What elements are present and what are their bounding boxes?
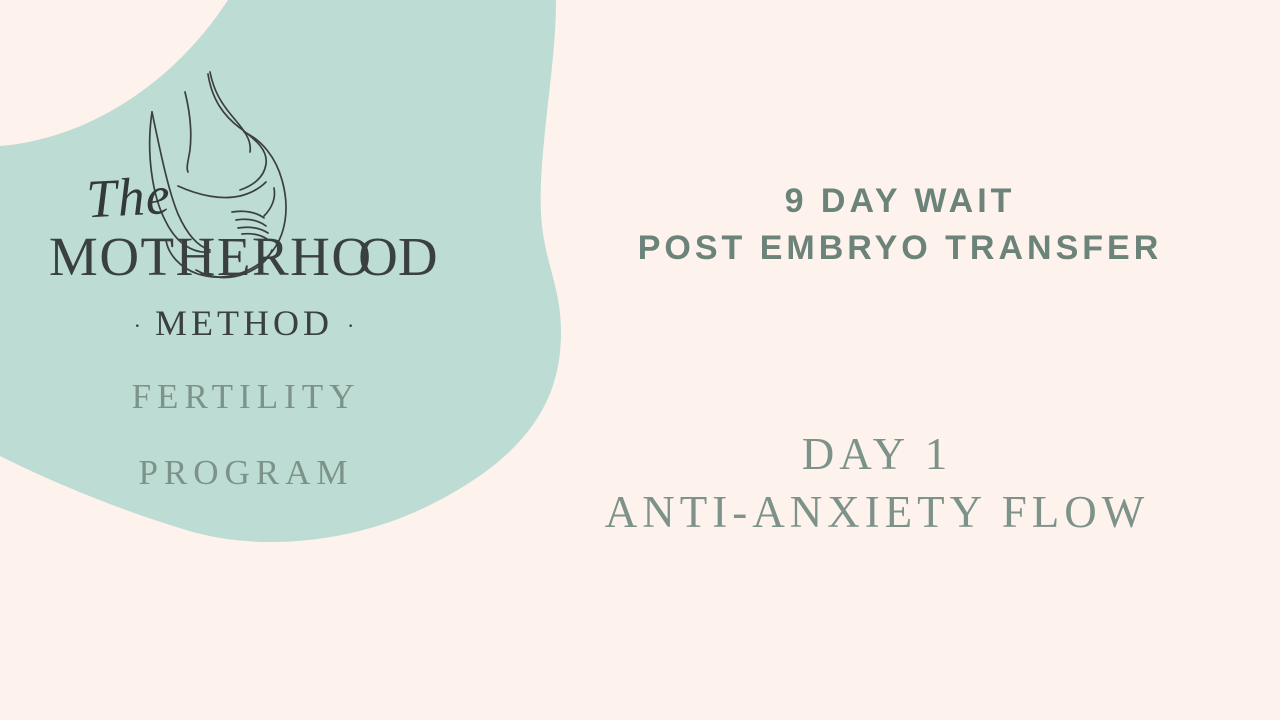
logo-program-line2: PROGRAM (22, 446, 470, 500)
subtitle-line-day: DAY 1 (577, 430, 1177, 480)
logo-motherhood-wordmark: MOTHERHOOD (18, 228, 470, 286)
bullet-left-icon: · (120, 313, 155, 338)
headline-line-1: 9 DAY WAIT (600, 178, 1200, 225)
logo-motherhood-oo-ligature: OO (331, 226, 397, 287)
logo-motherhood-part2: D (398, 226, 439, 287)
headline-line-2: POST EMBRYO TRANSFER (600, 225, 1200, 272)
brand-logo-lockup: The MOTHERHOOD ·METHOD· FERTILITY PROGRA… (0, 188, 470, 501)
subtitle-block: DAY 1 ANTI-ANXIETY FLOW (577, 430, 1177, 537)
logo-program-line1: FERTILITY (22, 370, 470, 424)
logo-method-line: ·METHOD· (18, 298, 470, 348)
logo-motherhood-part1: MOTHERH (49, 226, 331, 287)
logo-method-label: METHOD (155, 303, 333, 343)
subtitle-line-flow: ANTI-ANXIETY FLOW (577, 488, 1177, 538)
headline-block: 9 DAY WAIT POST EMBRYO TRANSFER (600, 178, 1200, 271)
slide-canvas: The MOTHERHOOD ·METHOD· FERTILITY PROGRA… (0, 0, 1280, 720)
bullet-right-icon: · (333, 313, 368, 338)
